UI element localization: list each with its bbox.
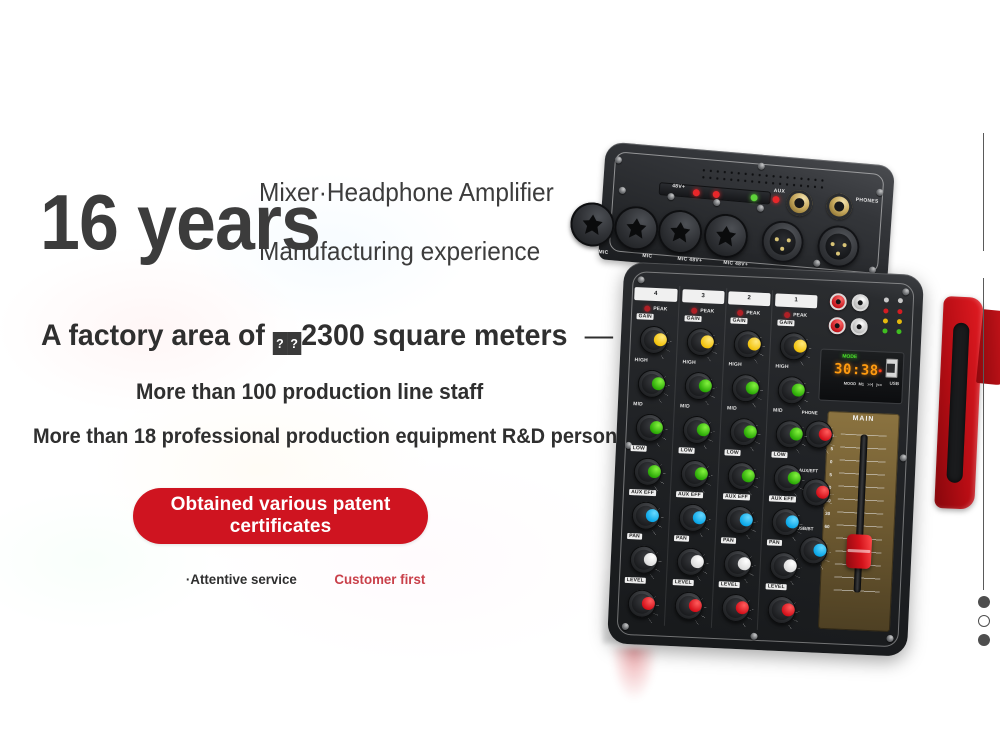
combo-label-4: MIC bbox=[598, 249, 608, 256]
knob-cap-blue bbox=[786, 515, 800, 529]
knob-label-aux-4: AUX EFF bbox=[629, 489, 656, 496]
knob-label-aux-3: AUX EFF bbox=[676, 491, 703, 498]
mixer-control-surface: USB MODE 30:38 |<< >>| bbox=[607, 262, 924, 657]
factory-area-prefix: A factory area of bbox=[41, 319, 273, 352]
jack-core bbox=[834, 201, 845, 212]
knob-cap-green bbox=[697, 423, 711, 437]
knob-cell-gain-1[interactable]: GAIN bbox=[770, 319, 817, 365]
knob-cap-blue bbox=[693, 511, 707, 525]
carousel-pagination[interactable] bbox=[978, 596, 990, 646]
led-indicator-icon bbox=[897, 309, 902, 314]
knob-label-gain-3: GAIN bbox=[684, 315, 702, 322]
phantom-power-label: 48V+ bbox=[672, 183, 685, 190]
knob-label-high-3: HIGH bbox=[682, 359, 696, 366]
knob-cell-mid-4[interactable]: MID bbox=[626, 401, 674, 447]
knob-label-high-4: HIGH bbox=[635, 357, 649, 364]
factory-area-value: 2300 square meters bbox=[301, 319, 567, 352]
media-button-next-wrap[interactable]: >>| bbox=[867, 382, 873, 388]
knob-cap-green bbox=[743, 425, 757, 439]
media-button-m1-label: M1 bbox=[859, 381, 865, 386]
knob-cap-red bbox=[782, 603, 796, 617]
xlr-pin-icon bbox=[780, 247, 784, 251]
led-indicator-icon bbox=[882, 328, 887, 333]
product-image: PHONES AUX 48V+ bbox=[575, 140, 975, 700]
carousel-dot-1[interactable] bbox=[978, 596, 990, 608]
tagline-customer-first: Customer first bbox=[334, 571, 425, 587]
knob-cap-blue bbox=[739, 513, 753, 527]
lcd-digits: 30:38 bbox=[834, 361, 879, 379]
media-button-prev-label: |<< bbox=[876, 382, 882, 387]
knob-label-low-4: LOW bbox=[631, 445, 648, 452]
carousel-dot-2[interactable] bbox=[978, 615, 990, 627]
knob-cell-high-1[interactable]: HIGH bbox=[768, 363, 815, 409]
knob-cell-low-2[interactable]: LOW bbox=[718, 449, 765, 495]
media-button-next-label: >>| bbox=[867, 382, 873, 387]
media-player-module[interactable]: USB MODE 30:38 |<< >>| bbox=[818, 349, 904, 405]
knob-cell-pan-2[interactable]: PAN bbox=[714, 537, 761, 583]
knob-label-pan-2: PAN bbox=[721, 537, 736, 544]
mixer-left-column: USB MODE 30:38 |<< >>| bbox=[806, 291, 908, 639]
knob-cap-yellow bbox=[794, 339, 808, 353]
xlr-socket bbox=[769, 228, 797, 256]
knob-label-high-1: HIGH bbox=[775, 364, 789, 371]
status-led-cluster bbox=[871, 297, 903, 340]
lcd-status-dot-icon bbox=[879, 369, 882, 372]
combo-label-3: MIC bbox=[642, 253, 652, 260]
knob-cell-high-4[interactable]: HIGH bbox=[628, 357, 676, 403]
knob-cap-yellow bbox=[654, 333, 668, 347]
knob-label-low-3: LOW bbox=[678, 447, 695, 454]
rca-jack-right bbox=[829, 293, 847, 311]
peak-label-3: PEAK bbox=[700, 308, 714, 315]
rca-core bbox=[857, 324, 862, 329]
knob-label-high-2: HIGH bbox=[729, 361, 743, 368]
led-indicator-icon bbox=[898, 298, 903, 303]
product-category-label: Mixer·Headphone Amplifier bbox=[259, 177, 554, 207]
combo-socket bbox=[582, 214, 603, 236]
hero-copy-block: 16 years Mixer·Headphone Amplifier Manuf… bbox=[0, 0, 600, 750]
phantom-led-icon bbox=[713, 191, 720, 199]
jack-core bbox=[794, 198, 805, 209]
led-indicator-icon bbox=[897, 319, 902, 324]
knob-label-low-2: LOW bbox=[725, 449, 742, 456]
knob-label-low-1: LOW bbox=[771, 451, 788, 458]
knob-label-mid-3: MID bbox=[680, 403, 690, 409]
knob-cell-aux-4[interactable]: AUX EFF bbox=[622, 489, 670, 535]
knob-cell-high-3[interactable]: HIGH bbox=[676, 359, 723, 405]
rca-core bbox=[835, 323, 840, 328]
combo-label-2: MIC 48V+ bbox=[677, 256, 702, 264]
xlr-socket bbox=[825, 233, 853, 261]
channel-strip-grid: 1 PEAK GAIN HIGH MID LOW AUX EFF PAN LEV… bbox=[618, 284, 819, 632]
channel-number-3: 3 bbox=[682, 289, 724, 304]
peak-label-2: PEAK bbox=[746, 310, 760, 317]
knob-label-level-4: LEVEL bbox=[625, 577, 646, 584]
patent-certificates-button[interactable]: Obtained various patent certificates bbox=[133, 488, 428, 544]
knob-cap-green bbox=[745, 381, 759, 395]
knob-cap-green bbox=[648, 465, 662, 479]
knob-cap-white bbox=[737, 557, 751, 571]
knob-cap-white bbox=[644, 553, 658, 567]
knob-cell-level-3[interactable]: LEVEL bbox=[666, 579, 713, 625]
xlr-pin-icon bbox=[775, 237, 779, 241]
knob-cap-red bbox=[735, 601, 749, 615]
knob-cell-pan-1[interactable]: PAN bbox=[760, 539, 807, 585]
knob-cap-green bbox=[790, 427, 804, 441]
knob-cap-green bbox=[650, 421, 664, 435]
rca-jack-left-2 bbox=[850, 318, 868, 336]
manufacturing-experience-label: Manufacturing experience bbox=[259, 236, 540, 266]
rca-core bbox=[836, 299, 841, 304]
mixer-device: PHONES AUX 48V+ bbox=[569, 136, 952, 665]
combo-socket bbox=[626, 217, 647, 239]
tagline-attentive-service: ·Attentive service bbox=[186, 571, 297, 587]
knob-cell-level-1[interactable]: LEVEL bbox=[758, 583, 805, 629]
knob-label-aux-1: AUX EFF bbox=[769, 495, 796, 502]
rca-jack-right-2 bbox=[828, 317, 846, 335]
carousel-dot-3[interactable] bbox=[978, 634, 990, 646]
rca-jack-left bbox=[851, 294, 869, 312]
rca-core bbox=[858, 300, 863, 305]
knob-cell-low-3[interactable]: LOW bbox=[672, 447, 719, 493]
peak-led-icon-4 bbox=[644, 305, 650, 311]
knob-cap-blue bbox=[646, 509, 660, 523]
main-fader-handle[interactable] bbox=[846, 534, 873, 569]
media-button-row: |<< >>| M1 MOOD bbox=[843, 381, 882, 389]
panel-screw bbox=[900, 454, 907, 461]
knob-label-pan-3: PAN bbox=[674, 535, 689, 542]
missing-glyph-box-1: ? bbox=[273, 332, 287, 355]
channel-number-1: 1 bbox=[775, 293, 817, 308]
knob-cap-green bbox=[792, 383, 806, 397]
media-button-prev-wrap[interactable]: |<< bbox=[876, 382, 882, 388]
right-rail-lower bbox=[983, 278, 984, 590]
knob-cell-low-4[interactable]: LOW bbox=[624, 445, 672, 491]
knob-cap-yellow bbox=[747, 337, 761, 351]
knob-cap-green bbox=[699, 379, 713, 393]
signal-led-icon bbox=[750, 194, 757, 202]
knob-cap-green bbox=[741, 469, 755, 483]
knob-label-level-3: LEVEL bbox=[672, 579, 693, 586]
media-button-mood-wrap[interactable]: MOOD bbox=[843, 381, 856, 388]
led-indicator-icon bbox=[884, 297, 889, 302]
knob-cell-aux-2[interactable]: AUX EFF bbox=[716, 493, 763, 539]
knob-cell-level-4[interactable]: LEVEL bbox=[618, 577, 666, 623]
knob-label-gain-2: GAIN bbox=[731, 317, 749, 324]
combo-socket bbox=[715, 225, 736, 247]
peak-label-1: PEAK bbox=[793, 312, 807, 319]
knob-cell-mid-1[interactable]: MID bbox=[766, 407, 813, 453]
knob-label-level-2: LEVEL bbox=[719, 581, 740, 588]
knob-cap-white bbox=[784, 559, 798, 573]
usb-label: USB bbox=[890, 381, 900, 386]
media-button-mood-label: MOOD bbox=[843, 381, 856, 387]
knob-label-level-1: LEVEL bbox=[765, 583, 786, 590]
xlr-pin-icon bbox=[830, 242, 834, 246]
knob-cap-red bbox=[642, 597, 656, 611]
knob-label-gain-4: GAIN bbox=[637, 313, 655, 320]
panel-screw bbox=[637, 276, 644, 283]
knob-cap-blue bbox=[813, 543, 827, 557]
carry-handle bbox=[934, 296, 984, 510]
led-indicator-icon bbox=[883, 318, 888, 323]
channel-number-2: 2 bbox=[729, 291, 771, 306]
knob-cell-high-2[interactable]: HIGH bbox=[722, 361, 769, 407]
panel-screw bbox=[750, 633, 757, 640]
knob-cap-red bbox=[818, 428, 832, 442]
knob-cap-yellow bbox=[701, 335, 715, 349]
factory-area-line: A factory area of ??2300 square meters— bbox=[41, 319, 613, 355]
led-indicator-icon bbox=[883, 308, 888, 313]
knob-label-mid-1: MID bbox=[773, 407, 783, 413]
peak-label-4: PEAK bbox=[653, 305, 667, 312]
peak-led-icon-3 bbox=[691, 307, 697, 313]
knob-label-aux-2: AUX EFF bbox=[723, 493, 750, 500]
knob-label-gain-1: GAIN bbox=[777, 320, 795, 327]
combo-socket bbox=[669, 221, 690, 243]
xlr-pin-icon bbox=[842, 243, 846, 247]
xlr-pin-icon bbox=[787, 238, 791, 242]
knob-cap-green bbox=[652, 377, 666, 391]
peak-led-icon-2 bbox=[737, 309, 743, 315]
knob-label-pan-1: PAN bbox=[767, 539, 782, 546]
handle-grip-hole bbox=[946, 323, 969, 484]
led-indicator-icon bbox=[896, 329, 901, 334]
knob-cell-low-1[interactable]: LOW bbox=[764, 451, 811, 497]
knob-cap-red bbox=[689, 599, 703, 613]
knob-label-mid-4: MID bbox=[633, 401, 643, 407]
missing-glyph-box-2: ? bbox=[287, 332, 301, 355]
knob-cap-green bbox=[695, 467, 709, 481]
knob-label-pan-4: PAN bbox=[627, 533, 642, 540]
knob-cell-aux-1[interactable]: AUX EFF bbox=[762, 495, 809, 541]
lcd-mode-label: MODE bbox=[842, 354, 857, 361]
knob-cell-gain-3[interactable]: GAIN bbox=[678, 315, 725, 361]
phantom-led-icon-2 bbox=[693, 189, 700, 197]
usb-port-icon bbox=[885, 359, 898, 379]
knob-cell-gain-2[interactable]: GAIN bbox=[724, 317, 771, 363]
production-staff-line: More than 100 production line staff bbox=[136, 379, 483, 405]
channel-number-4: 4 bbox=[635, 287, 678, 302]
knob-cell-aux-3[interactable]: AUX EFF bbox=[670, 491, 717, 537]
knob-label-mid-2: MID bbox=[727, 405, 737, 411]
knob-cap-white bbox=[691, 555, 705, 569]
aux-label: AUX bbox=[773, 188, 785, 195]
xlr-pin-icon bbox=[836, 251, 840, 255]
right-rail-upper bbox=[983, 133, 984, 251]
rd-personnel-line: More than 18 professional production equ… bbox=[33, 424, 646, 449]
tagline-row: ·Attentive serviceCustomer first bbox=[183, 571, 427, 589]
media-button-m1-wrap[interactable]: M1 bbox=[859, 381, 865, 387]
handle-upper-tab bbox=[976, 309, 1000, 386]
knob-cell-mid-2[interactable]: MID bbox=[720, 405, 767, 451]
knob-cap-red bbox=[816, 485, 830, 499]
knob-cap-green bbox=[788, 471, 802, 485]
knob-cell-pan-4[interactable]: PAN bbox=[620, 533, 668, 579]
peak-led-icon-1 bbox=[784, 311, 790, 317]
knob-cell-pan-3[interactable]: PAN bbox=[668, 535, 715, 581]
knob-cell-gain-4[interactable]: GAIN bbox=[630, 313, 678, 359]
knob-cell-mid-3[interactable]: MID bbox=[674, 403, 721, 449]
knob-cell-level-2[interactable]: LEVEL bbox=[712, 581, 759, 627]
